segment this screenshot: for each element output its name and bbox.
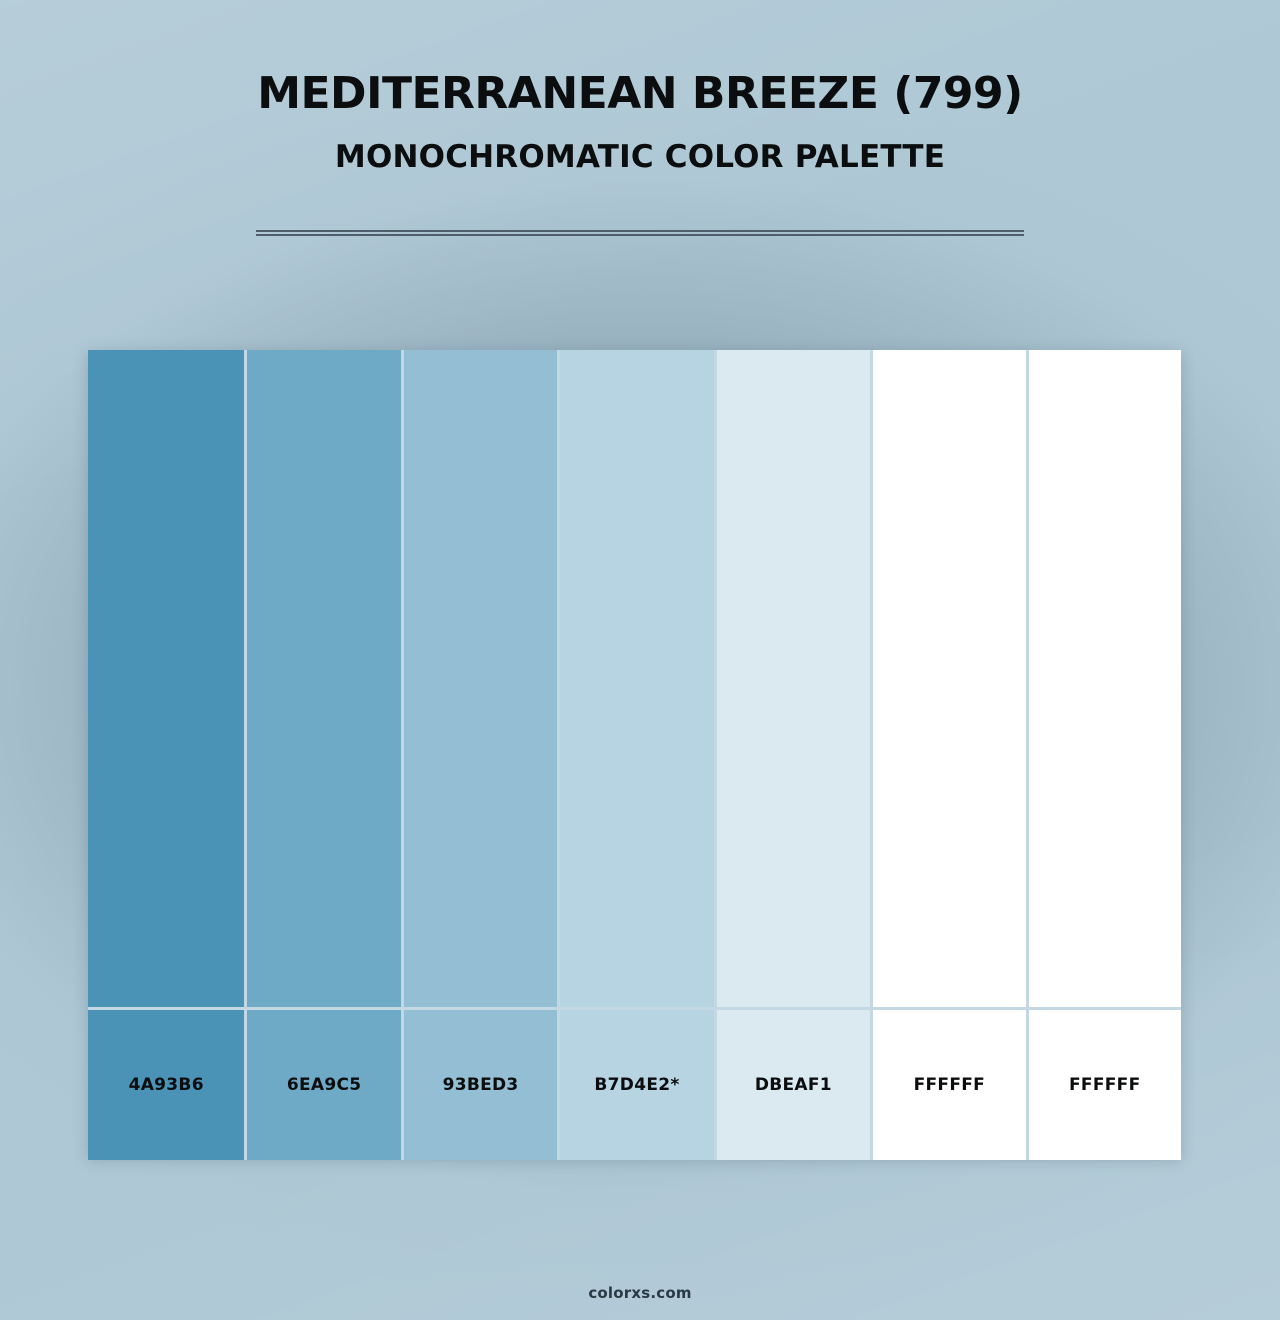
color-swatch[interactable] — [870, 350, 1025, 1007]
color-swatch-label-cell[interactable]: B7D4E2* — [557, 1010, 713, 1160]
color-swatch-label-cell[interactable]: FFFFFF — [870, 1010, 1025, 1160]
color-palette: 4A93B66EA9C593BED3B7D4E2*DBEAF1FFFFFFFFF… — [88, 350, 1181, 1157]
color-hex-label: 93BED3 — [443, 1075, 519, 1095]
color-hex-label: 4A93B6 — [129, 1075, 204, 1095]
page-subtitle: MONOCHROMATIC COLOR PALETTE — [0, 118, 1280, 174]
color-swatch-label-cell[interactable]: DBEAF1 — [714, 1010, 870, 1160]
swatch-row — [88, 350, 1181, 1007]
color-swatch[interactable] — [88, 350, 244, 1007]
divider-line-top — [256, 230, 1024, 232]
color-swatch-label-cell[interactable]: 93BED3 — [401, 1010, 557, 1160]
color-swatch-label-cell[interactable]: 6EA9C5 — [244, 1010, 400, 1160]
site-credit: colorxs.com — [588, 1284, 691, 1302]
color-hex-label: 6EA9C5 — [287, 1075, 362, 1095]
footer: colorxs.com — [0, 1283, 1280, 1302]
page-title: MEDITERRANEAN BREEZE (799) — [0, 0, 1280, 118]
color-hex-label: B7D4E2* — [594, 1075, 679, 1095]
color-hex-label: FFFFFF — [1069, 1075, 1140, 1095]
color-swatch-label-cell[interactable]: 4A93B6 — [88, 1010, 244, 1160]
color-swatch[interactable] — [401, 350, 557, 1007]
swatch-label-row: 4A93B66EA9C593BED3B7D4E2*DBEAF1FFFFFFFFF… — [88, 1007, 1181, 1160]
color-swatch[interactable] — [1026, 350, 1181, 1007]
header: MEDITERRANEAN BREEZE (799) MONOCHROMATIC… — [0, 0, 1280, 174]
color-swatch[interactable] — [244, 350, 400, 1007]
color-swatch-label-cell[interactable]: FFFFFF — [1026, 1010, 1181, 1160]
divider-line-bottom — [256, 234, 1024, 236]
color-swatch[interactable] — [557, 350, 713, 1007]
palette-page: MEDITERRANEAN BREEZE (799) MONOCHROMATIC… — [0, 0, 1280, 1320]
color-hex-label: DBEAF1 — [755, 1075, 832, 1095]
header-divider — [256, 230, 1024, 236]
color-swatch[interactable] — [714, 350, 870, 1007]
color-hex-label: FFFFFF — [914, 1075, 985, 1095]
